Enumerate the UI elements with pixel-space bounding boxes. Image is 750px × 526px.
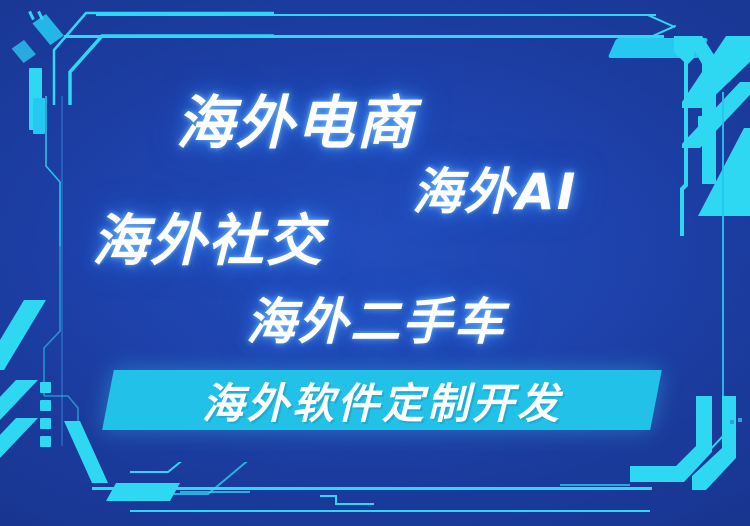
bottom-right-short-line (560, 484, 630, 486)
headline-overseas-ai: 海外AI (412, 152, 577, 224)
bottom-left-ascending-traces (130, 462, 370, 522)
headline-overseas-used-car: 海外二手车 (246, 282, 506, 354)
headline-overseas-social: 海外社交 (92, 196, 324, 277)
tech-poster: 海外电商 海外AI 海外社交 海外二手车 海外软件定制开发 (0, 0, 750, 526)
banner-label-software-custom-development: 海外软件定制开发 (108, 370, 656, 430)
right-square-1-icon (698, 78, 709, 89)
left-rail-accent-bar (33, 98, 45, 134)
right-square-2-icon (698, 97, 709, 108)
headline-overseas-ecommerce: 海外电商 (176, 76, 416, 160)
right-square-3-icon (698, 116, 709, 127)
top-right-stripe-cluster (682, 36, 750, 216)
right-square-4-icon (698, 135, 709, 146)
right-rail-vertical-line (722, 92, 724, 422)
